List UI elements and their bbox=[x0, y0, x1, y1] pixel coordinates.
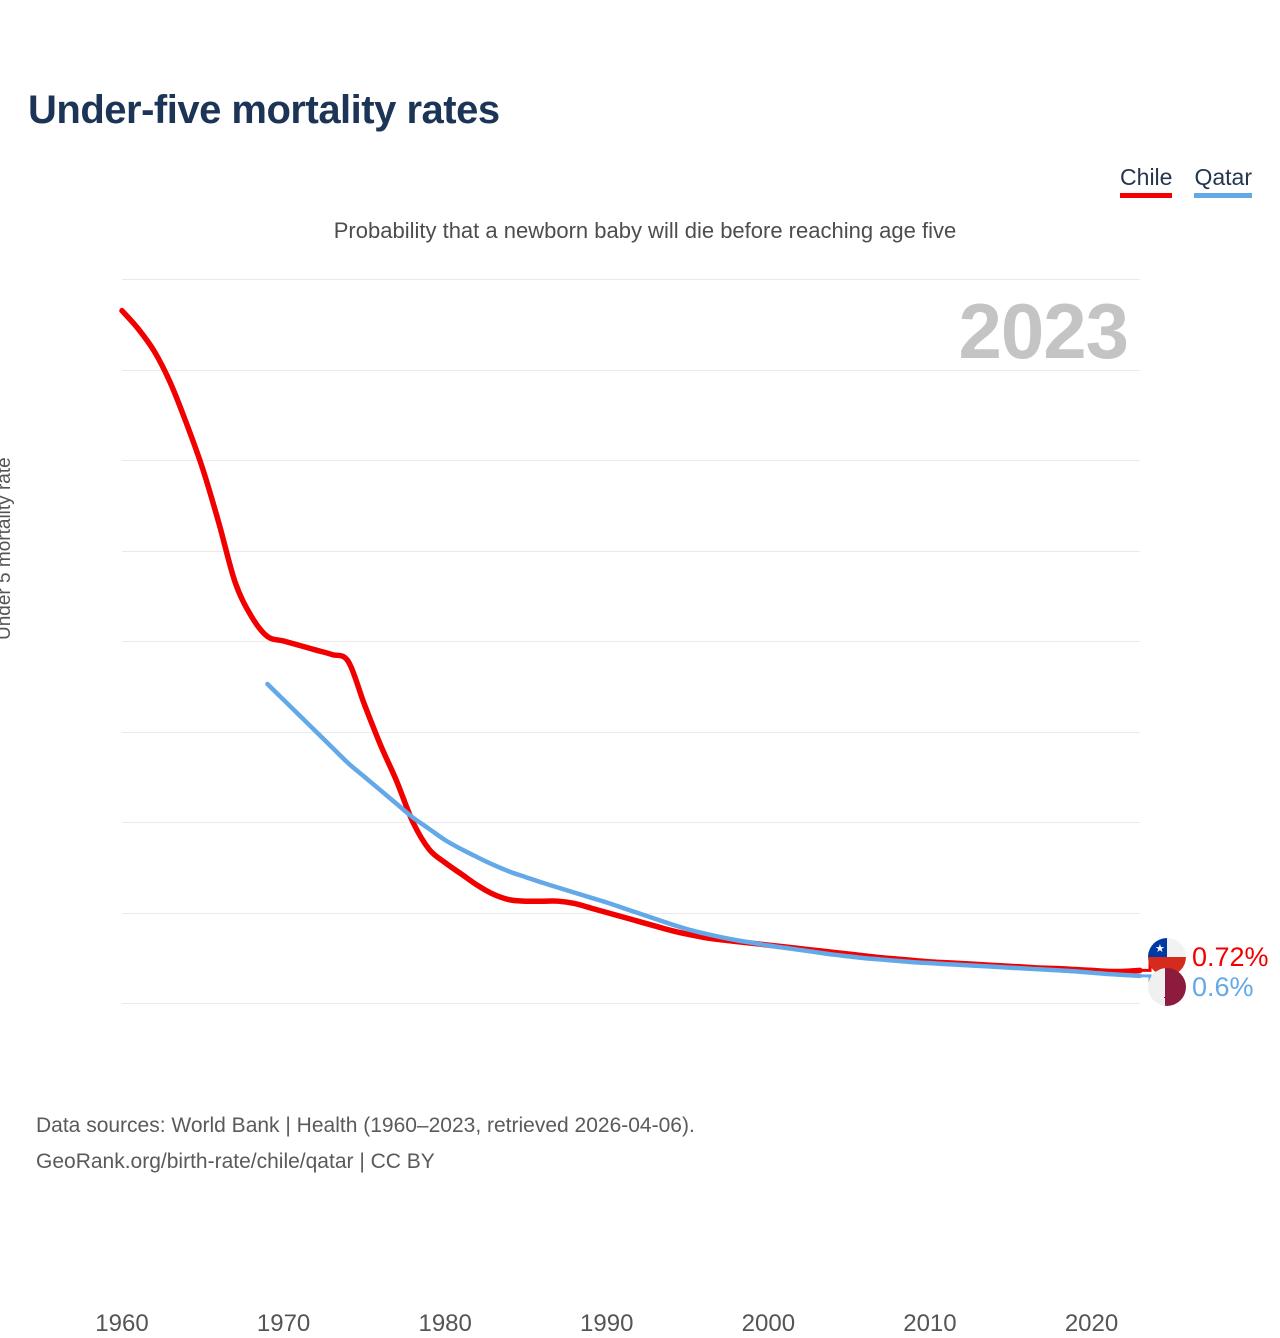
x-tick-label: 1970 bbox=[257, 1310, 310, 1338]
x-tick-label: 1980 bbox=[418, 1310, 471, 1338]
plot-area: 0%2%4%6%8%10%12%14%16% 19601970198019902… bbox=[122, 279, 1140, 1003]
footer-line-sources: Data sources: World Bank | Health (1960–… bbox=[36, 1108, 695, 1144]
y-axis-label: Under 5 mortality rate bbox=[0, 457, 16, 640]
legend-label-qatar: Qatar bbox=[1194, 164, 1252, 190]
page-title: Under-five mortality rates bbox=[28, 88, 500, 133]
series-line-chile bbox=[122, 311, 1140, 972]
x-tick-label: 1960 bbox=[95, 1310, 148, 1338]
legend-swatch-qatar bbox=[1194, 193, 1252, 198]
qatar-flag-serration bbox=[1160, 968, 1165, 1006]
legend-item-qatar[interactable]: Qatar bbox=[1194, 164, 1252, 198]
chart-subtitle: Probability that a newborn baby will die… bbox=[0, 218, 1280, 244]
series-line-qatar bbox=[267, 684, 1140, 976]
endpoint-qatar: 0.6% bbox=[1148, 968, 1254, 1006]
x-tick-label: 2020 bbox=[1065, 1310, 1118, 1338]
x-tick-label: 2000 bbox=[742, 1310, 795, 1338]
legend-swatch-chile bbox=[1120, 193, 1172, 198]
chile-flag-white bbox=[1167, 938, 1186, 957]
footer: Data sources: World Bank | Health (1960–… bbox=[36, 1108, 695, 1180]
qatar-flag-icon bbox=[1148, 968, 1186, 1006]
x-tick-label: 2010 bbox=[903, 1310, 956, 1338]
qatar-flag-maroon bbox=[1164, 968, 1186, 1006]
footer-line-license: GeoRank.org/birth-rate/chile/qatar | CC … bbox=[36, 1144, 695, 1180]
qatar-flag-tooth bbox=[1160, 1002, 1165, 1006]
legend: Chile Qatar bbox=[1120, 164, 1252, 198]
endpoint-value-qatar: 0.6% bbox=[1192, 972, 1254, 1003]
legend-label-chile: Chile bbox=[1120, 164, 1172, 190]
series-lines bbox=[122, 279, 1140, 1003]
chile-flag-star-icon: ★ bbox=[1155, 944, 1165, 955]
legend-item-chile[interactable]: Chile bbox=[1120, 164, 1172, 198]
x-tick-label: 1990 bbox=[580, 1310, 633, 1338]
gridline bbox=[122, 1003, 1140, 1004]
